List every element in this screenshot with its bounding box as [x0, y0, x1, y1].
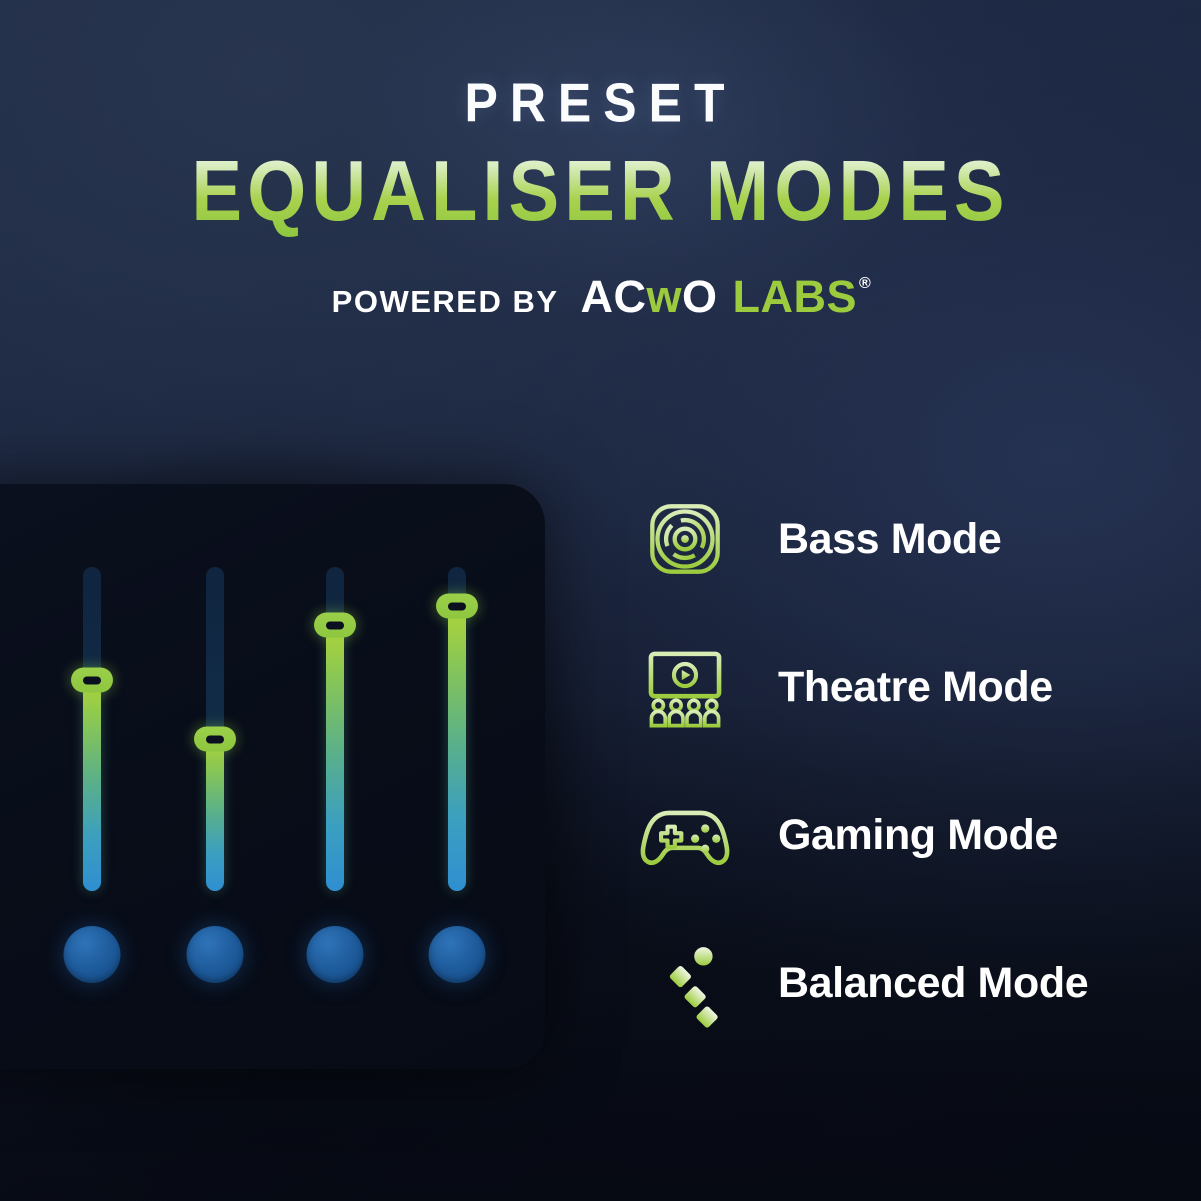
equalizer-sliders-icon: [630, 934, 740, 1032]
slider-fill: [326, 625, 344, 891]
header: PRESET EQUALISER MODES POWERED BY AC w O…: [0, 74, 1201, 323]
eq-knob-4[interactable]: [429, 926, 486, 983]
mode-label: Theatre Mode: [778, 663, 1053, 712]
mode-label: Balanced Mode: [778, 959, 1088, 1008]
slider-thumb-3[interactable]: [314, 613, 356, 638]
gamepad-icon: [630, 786, 740, 884]
page-title: EQUALISER MODES: [0, 143, 1201, 240]
mode-row-bass-mode[interactable]: Bass Mode: [630, 490, 1150, 588]
powered-by-label: POWERED BY: [332, 284, 559, 320]
eq-knob-3[interactable]: [307, 926, 364, 983]
brand-logo: AC w O LABS ®: [581, 271, 870, 323]
speaker-icon: [630, 490, 740, 588]
slider-fill: [206, 739, 224, 891]
mode-label: Gaming Mode: [778, 811, 1058, 860]
slider-thumb-4[interactable]: [436, 594, 478, 619]
brand-part-labs: LABS: [733, 271, 858, 323]
registered-mark-icon: ®: [859, 275, 871, 293]
slider-fill: [448, 606, 466, 891]
slider-thumb-1[interactable]: [71, 668, 113, 693]
page-eyebrow: PRESET: [0, 71, 1201, 135]
slider-group: [0, 484, 545, 1069]
brand-part-w: w: [647, 271, 683, 323]
mode-row-gaming-mode[interactable]: Gaming Mode: [630, 786, 1150, 884]
mode-row-balanced-mode[interactable]: Balanced Mode: [630, 934, 1150, 1032]
brand-part-o: O: [682, 271, 718, 323]
mode-list: Bass ModeTheatre ModeGaming ModeBalanced…: [630, 490, 1150, 1032]
slider-thumb-2[interactable]: [194, 727, 236, 752]
eq-knob-1[interactable]: [64, 926, 121, 983]
promo-stage: PRESET EQUALISER MODES POWERED BY AC w O…: [0, 0, 1201, 1201]
eq-slider-1[interactable]: [83, 567, 101, 891]
eq-knob-2[interactable]: [187, 926, 244, 983]
cinema-screen-icon: [630, 638, 740, 736]
brand-part-ac: AC: [581, 271, 647, 323]
powered-by-row: POWERED BY AC w O LABS ®: [0, 271, 1201, 323]
mode-label: Bass Mode: [778, 515, 1001, 564]
equalizer-panel: [0, 484, 545, 1069]
slider-fill: [83, 680, 101, 891]
mode-row-theatre-mode[interactable]: Theatre Mode: [630, 638, 1150, 736]
